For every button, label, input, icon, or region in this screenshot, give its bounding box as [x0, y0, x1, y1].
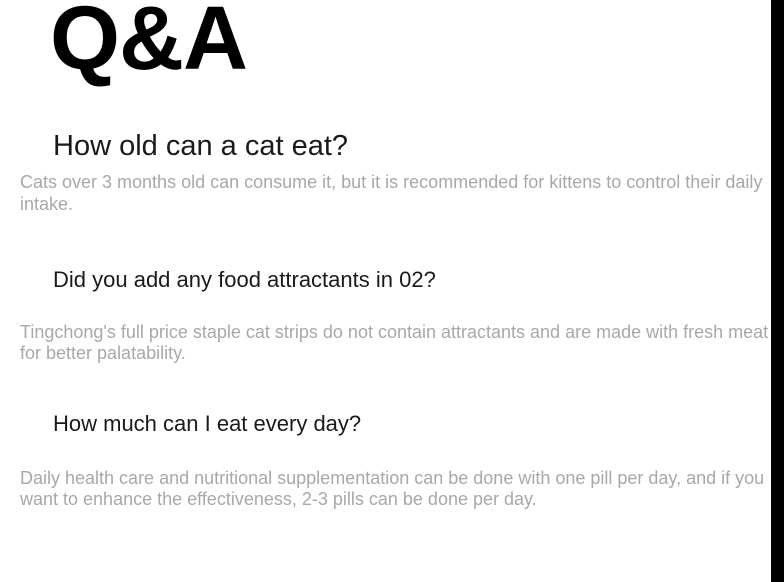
- right-edge-bar: [771, 0, 784, 582]
- qa-answer-3: Daily health care and nutritional supple…: [20, 468, 784, 512]
- qa-item-2: Did you add any food attractants in 02? …: [0, 266, 784, 365]
- qa-question-3: How much can I eat every day?: [53, 410, 784, 438]
- qa-answer-2: Tingchong's full price staple cat strips…: [20, 322, 784, 366]
- qa-answer-1: Cats over 3 months old can consume it, b…: [20, 172, 784, 216]
- qa-item-1: How old can a cat eat? Cats over 3 month…: [0, 128, 784, 216]
- qa-question-2: Did you add any food attractants in 02?: [53, 266, 784, 294]
- qa-content: Q&A How old can a cat eat? Cats over 3 m…: [0, 0, 784, 582]
- page-title: Q&A: [50, 0, 247, 89]
- qa-page: Q&A How old can a cat eat? Cats over 3 m…: [0, 0, 784, 582]
- qa-item-3: How much can I eat every day? Daily heal…: [0, 410, 784, 511]
- qa-question-1: How old can a cat eat?: [53, 128, 784, 164]
